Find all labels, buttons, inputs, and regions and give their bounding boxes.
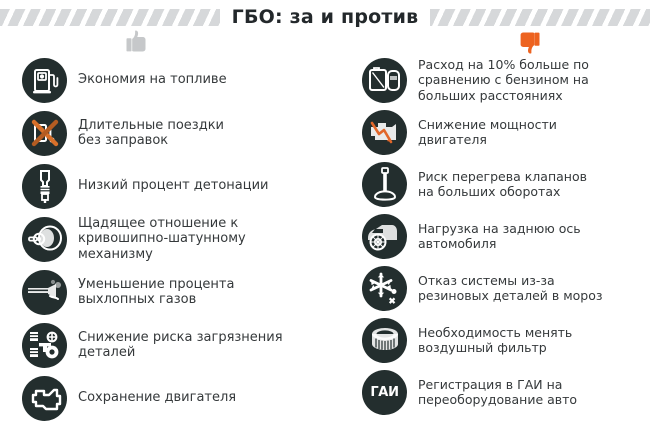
list-item-label: Экономия на топливе — [78, 72, 227, 88]
list-item[interactable]: Отказ системы из-за резиновых деталей в … — [362, 264, 650, 312]
list-item-label: Отказ системы из-за резиновых деталей в … — [418, 273, 603, 304]
list-item[interactable]: Уменьшение процента выхлопных газов — [22, 268, 340, 316]
engine-block-icon — [22, 376, 67, 421]
valve-icon — [362, 162, 407, 207]
gai-icon-text: ГАИ — [370, 385, 398, 400]
list-item-label: Снижение риска загрязнения деталей — [78, 330, 283, 361]
thumb-down-icon — [516, 30, 542, 54]
list-item-label: Низкий процент детонации — [78, 178, 269, 194]
list-item[interactable]: Длительные поездки без заправок — [22, 109, 340, 157]
page-title: ГБО: за и против — [232, 8, 419, 27]
crankshaft-icon — [22, 217, 67, 262]
list-item[interactable]: Расход на 10% больше по сравнению с бенз… — [362, 56, 650, 104]
list-item[interactable]: Экономия на топливе — [22, 56, 340, 104]
list-item[interactable]: Снижение риска загрязнения деталей — [22, 321, 340, 369]
cons-column: Расход на 10% больше по сравнению с бенз… — [340, 30, 650, 427]
snowflake-icon — [362, 266, 407, 311]
power-drop-icon — [362, 110, 407, 155]
list-item[interactable]: Риск перегрева клапанов на больших оборо… — [362, 160, 650, 208]
list-item-label: Необходимость менять воздушный фильтр — [418, 325, 572, 356]
list-item[interactable]: ГАИ Регистрация в ГАИ на переоборудовани… — [362, 368, 650, 416]
no-refuel-icon — [22, 111, 67, 156]
list-item-label: Сохранение двигателя — [78, 390, 236, 406]
fuel-canister-icon — [362, 58, 407, 103]
content-columns: Экономия на топливе Длительные поездки б… — [0, 30, 650, 427]
list-item-label: Регистрация в ГАИ на переоборудование ав… — [418, 377, 577, 408]
list-item[interactable]: Щадящее отношение к кривошипно-шатунному… — [22, 215, 340, 263]
page-header: ГБО: за и против — [0, 0, 650, 30]
list-item[interactable]: Низкий процент детонации — [22, 162, 340, 210]
spark-plug-icon — [22, 164, 67, 209]
fuel-pump-icon — [22, 58, 67, 103]
list-item[interactable]: Нагрузка на заднюю ось автомобиля — [362, 212, 650, 260]
header-stripes-right — [430, 9, 650, 26]
pros-column: Экономия на топливе Длительные поездки б… — [0, 30, 340, 427]
list-item-label: Риск перегрева клапанов на больших оборо… — [418, 169, 587, 200]
list-item-label: Расход на 10% больше по сравнению с бенз… — [418, 57, 589, 104]
cons-thumb-row — [362, 30, 650, 56]
list-item-label: Снижение мощности двигателя — [418, 117, 557, 148]
list-item-label: Щадящее отношение к кривошипно-шатунному… — [78, 216, 246, 263]
list-item-label: Уменьшение процента выхлопных газов — [78, 277, 234, 308]
list-item-label: Нагрузка на заднюю ось автомобиля — [418, 221, 581, 252]
gai-icon: ГАИ — [362, 370, 407, 415]
engine-parts-icon — [22, 323, 67, 368]
pros-thumb-row — [22, 30, 340, 56]
list-item-label: Длительные поездки без заправок — [78, 118, 224, 149]
exhaust-pipe-icon — [22, 270, 67, 315]
list-item[interactable]: Сохранение двигателя — [22, 374, 340, 422]
list-item[interactable]: Снижение мощности двигателя — [362, 108, 650, 156]
header-stripes-left — [0, 9, 220, 26]
thumb-up-icon — [124, 30, 150, 54]
list-item[interactable]: Необходимость менять воздушный фильтр — [362, 316, 650, 364]
air-filter-icon — [362, 318, 407, 363]
rear-axle-icon — [362, 214, 407, 259]
